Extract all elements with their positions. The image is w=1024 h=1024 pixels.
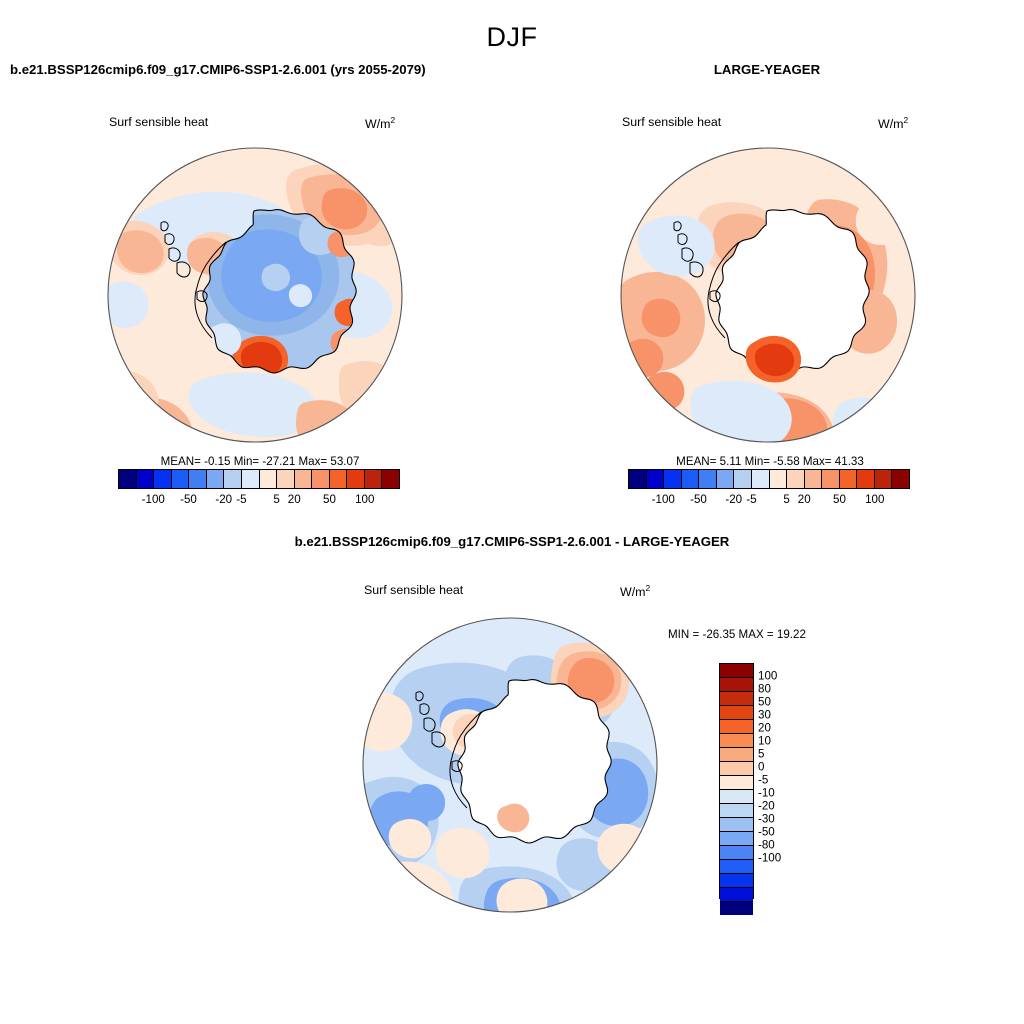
vertical-colorbar-tick-label: -10: [758, 787, 775, 800]
difference-colorbar[interactable]: [719, 663, 754, 899]
vertical-colorbar-tick-label: -50: [758, 826, 775, 839]
diff-units-label: W/m2: [620, 583, 650, 599]
right-colorbar-bands: [628, 469, 910, 489]
colorbar-tick-label: 50: [323, 493, 336, 506]
vertical-colorbar-band-15: [720, 874, 753, 888]
colorbar-tick-label: -100: [652, 493, 675, 506]
colorbar-tick-label: -20: [215, 493, 232, 506]
colorbar-band-12: [840, 470, 858, 488]
diff-units-exponent: 2: [645, 583, 650, 593]
right-panel-title: LARGE-YEAGER: [620, 62, 914, 77]
right-map-svg: [618, 145, 918, 445]
right-colorbar-ticks: -100-50-20-552050100: [628, 493, 910, 509]
vertical-colorbar-band-3: [720, 706, 753, 720]
colorbar-tick-label: -5: [236, 493, 246, 506]
difference-panel-title: b.e21.BSSP126cmip6.f09_g17.CMIP6-SSP1-2.…: [0, 534, 1024, 549]
vertical-colorbar-band-5: [720, 734, 753, 748]
right-units-label: W/m2: [878, 115, 908, 131]
colorbar-band-13: [347, 470, 365, 488]
vertical-colorbar-tick-label: -30: [758, 813, 775, 826]
colorbar-band-4: [189, 470, 207, 488]
vertical-colorbar-tick-label: -20: [758, 800, 775, 813]
diff-units-base: W/m: [620, 585, 645, 599]
left-colorbar-bands: [118, 469, 400, 489]
vertical-colorbar-band-2: [720, 692, 753, 706]
colorbar-band-11: [822, 470, 840, 488]
colorbar-band-8: [770, 470, 788, 488]
colorbar-band-2: [664, 470, 682, 488]
difference-map[interactable]: [360, 615, 660, 915]
colorbar-band-13: [857, 470, 875, 488]
colorbar-tick-label: 20: [798, 493, 811, 506]
difference-stats: MIN = -26.35 MAX = 19.22: [668, 628, 806, 641]
colorbar-tick-label: 5: [273, 493, 279, 506]
colorbar-band-14: [365, 470, 383, 488]
vertical-colorbar-band-9: [720, 790, 753, 804]
vertical-colorbar-tick-label: 5: [758, 748, 764, 761]
vertical-colorbar-band-10: [720, 804, 753, 818]
vertical-colorbar-band-6: [720, 748, 753, 762]
difference-map-svg: [360, 615, 660, 915]
vertical-colorbar-tick-label: 0: [758, 761, 764, 774]
colorbar-band-0: [629, 470, 647, 488]
colorbar-band-10: [295, 470, 313, 488]
difference-colorbar-bands: [719, 663, 754, 899]
colorbar-band-9: [277, 470, 295, 488]
colorbar-band-1: [647, 470, 665, 488]
vertical-colorbar-band-4: [720, 720, 753, 734]
left-units-label: W/m2: [365, 115, 395, 131]
colorbar-band-3: [172, 470, 190, 488]
vertical-colorbar-band-16: [720, 888, 753, 902]
colorbar-tick-label: 5: [783, 493, 789, 506]
colorbar-tick-label: -50: [180, 493, 197, 506]
colorbar-tick-label: 50: [833, 493, 846, 506]
colorbar-band-15: [382, 470, 399, 488]
vertical-colorbar-band-11: [720, 818, 753, 832]
vertical-colorbar-band-12: [720, 832, 753, 846]
colorbar-band-9: [787, 470, 805, 488]
colorbar-tick-label: -50: [690, 493, 707, 506]
vertical-colorbar-band-0: [720, 664, 753, 678]
vertical-colorbar-band-7: [720, 762, 753, 776]
left-units-base: W/m: [365, 117, 390, 131]
vertical-colorbar-tick-label: 50: [758, 696, 771, 709]
vertical-colorbar-band-14: [720, 860, 753, 874]
colorbar-band-0: [119, 470, 137, 488]
colorbar-tick-label: -5: [746, 493, 756, 506]
right-variable-label: Surf sensible heat: [622, 115, 721, 129]
colorbar-band-14: [875, 470, 893, 488]
colorbar-band-15: [892, 470, 909, 488]
right-map[interactable]: [618, 145, 918, 445]
colorbar-band-2: [154, 470, 172, 488]
colorbar-tick-label: 20: [288, 493, 301, 506]
right-units-base: W/m: [878, 117, 903, 131]
vertical-colorbar-band-13: [720, 846, 753, 860]
colorbar-band-5: [717, 470, 735, 488]
colorbar-band-1: [137, 470, 155, 488]
colorbar-band-7: [242, 470, 260, 488]
vertical-colorbar-tick-label: 20: [758, 722, 771, 735]
left-stats: MEAN= -0.15 Min= -27.21 Max= 53.07: [100, 455, 420, 468]
figure-season-title: DJF: [0, 22, 1024, 53]
vertical-colorbar-tick-label: 80: [758, 683, 771, 696]
right-stats: MEAN= 5.11 Min= -5.58 Max= 41.33: [610, 455, 930, 468]
colorbar-tick-label: -20: [725, 493, 742, 506]
vertical-colorbar-band-8: [720, 776, 753, 790]
right-units-exponent: 2: [903, 115, 908, 125]
left-panel-title: b.e21.BSSP126cmip6.f09_g17.CMIP6-SSP1-2.…: [10, 62, 426, 77]
vertical-colorbar-tick-label: -80: [758, 839, 775, 852]
left-map[interactable]: [105, 145, 405, 445]
colorbar-tick-label: -100: [142, 493, 165, 506]
colorbar-band-6: [224, 470, 242, 488]
vertical-colorbar-tick-label: 100: [758, 670, 777, 683]
colorbar-band-3: [682, 470, 700, 488]
vertical-colorbar-tick-label: 10: [758, 735, 771, 748]
colorbar-band-10: [805, 470, 823, 488]
difference-colorbar-ticks: 100805030201050-5-10-20-30-50-80-100: [758, 663, 818, 899]
colorbar-band-11: [312, 470, 330, 488]
diff-variable-label: Surf sensible heat: [364, 583, 463, 597]
left-colorbar[interactable]: -100-50-20-552050100: [118, 469, 400, 509]
colorbar-band-7: [752, 470, 770, 488]
right-colorbar[interactable]: -100-50-20-552050100: [628, 469, 910, 509]
colorbar-band-8: [260, 470, 278, 488]
vertical-colorbar-tick-label: -5: [758, 774, 768, 787]
vertical-colorbar-tick-label: -100: [758, 852, 781, 865]
left-units-exponent: 2: [390, 115, 395, 125]
colorbar-band-12: [330, 470, 348, 488]
vertical-colorbar-tick-label: 30: [758, 709, 771, 722]
colorbar-tick-label: 100: [865, 493, 884, 506]
colorbar-band-6: [734, 470, 752, 488]
colorbar-tick-label: 100: [355, 493, 374, 506]
left-map-svg: [105, 145, 405, 445]
left-variable-label: Surf sensible heat: [109, 115, 208, 129]
vertical-colorbar-band-1: [720, 678, 753, 692]
left-colorbar-ticks: -100-50-20-552050100: [118, 493, 400, 509]
vertical-colorbar-band-17: [720, 902, 753, 915]
colorbar-band-4: [699, 470, 717, 488]
colorbar-band-5: [207, 470, 225, 488]
